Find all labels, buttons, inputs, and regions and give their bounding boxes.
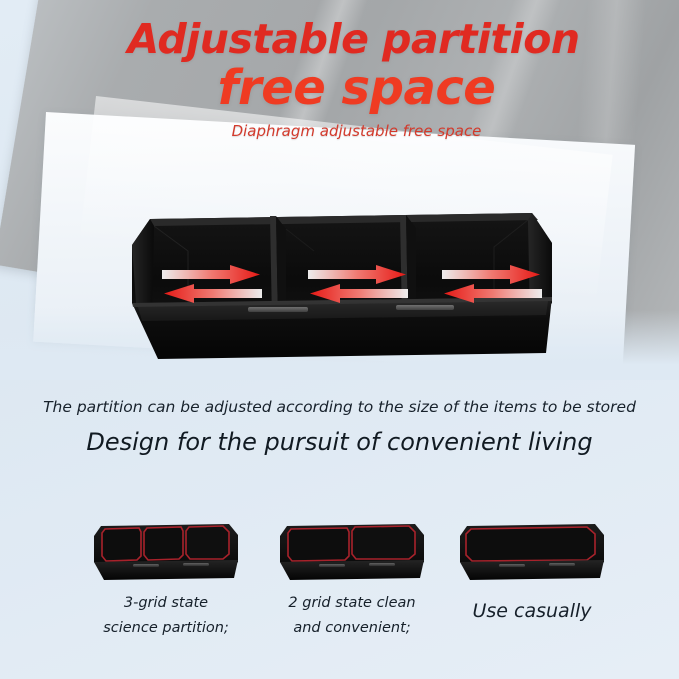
two-grid-box-illustration [277,520,427,582]
mid-copy-block: The partition can be adjusted according … [0,396,679,457]
thumbnail-row: 3-grid state science partition; 2 grid s… [0,520,679,670]
thumbnail-caption-line-1: 3-grid state [86,591,246,616]
arrow-pair-compartment-2 [306,265,410,305]
arrow-left-icon [164,284,262,303]
thumbnail-two-grid: 2 grid state clean and convenient; [272,520,432,641]
headline-line-2: free space [0,62,679,114]
main-product-image [128,207,558,362]
arrow-right-icon [162,265,260,284]
thumbnail-caption-line-1: Use casually [452,598,612,624]
arrow-right-icon [442,265,540,284]
headline-line-1: Adjustable partition [0,16,679,62]
headline-block: Adjustable partition free space Diaphrag… [0,16,679,140]
thumbnail-caption: Use casually [452,598,612,624]
thumbnail-caption-line-2: and convenient; [272,616,432,641]
thumbnail-open-state: Use casually [452,520,612,624]
arrow-right-icon [308,265,406,284]
mid-copy-line-1: The partition can be adjusted according … [0,396,679,418]
arrow-left-icon [444,284,542,303]
thumbnail-caption: 2 grid state clean and convenient; [272,591,432,641]
thumbnail-caption-line-2: science partition; [86,616,246,641]
thumbnail-caption: 3-grid state science partition; [86,591,246,641]
arrow-pair-compartment-3 [440,265,544,305]
three-grid-box-illustration [91,520,241,582]
arrow-pair-compartment-1 [160,265,264,305]
open-box-illustration [457,520,607,582]
mid-copy-line-2: Design for the pursuit of convenient liv… [0,427,679,457]
product-infographic-page: Adjustable partition free space Diaphrag… [0,0,679,679]
arrow-left-icon [310,284,408,303]
thumbnail-caption-line-1: 2 grid state clean [272,591,432,616]
subheadline: Diaphragm adjustable free space [0,122,679,140]
thumbnail-three-grid: 3-grid state science partition; [86,520,246,641]
